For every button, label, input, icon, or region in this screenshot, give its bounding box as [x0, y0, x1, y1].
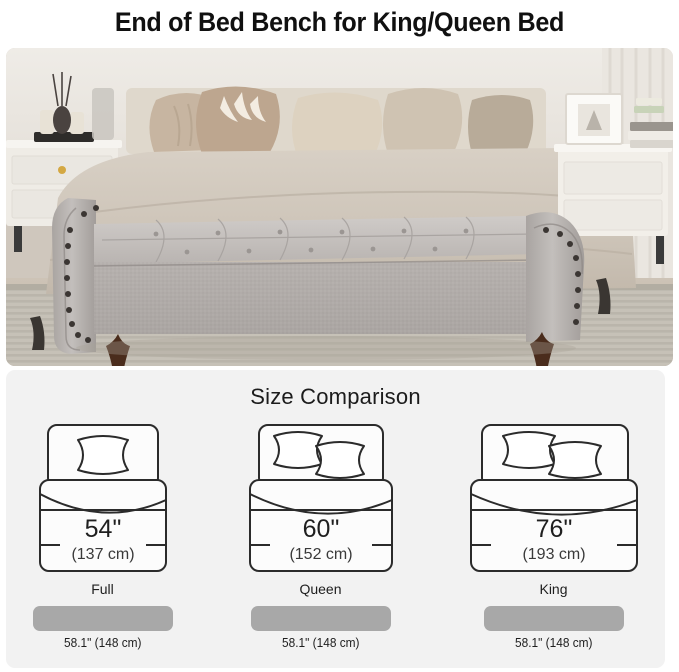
bed-label-king: King	[539, 581, 567, 597]
bed-label-queen: Queen	[299, 581, 341, 597]
bench-dimension-queen: 58.1" (148 cm)	[282, 636, 359, 650]
bed-column-queen: 60" (152 cm) Queen 58.1" (148 cm)	[248, 422, 394, 650]
bench-bar-queen	[251, 606, 391, 631]
size-comparison-title: Size Comparison	[6, 370, 665, 410]
page-title: End of Bed Bench for King/Queen Bed	[24, 0, 655, 44]
bed-diagram-full-icon: 54" (137 cm)	[38, 422, 168, 574]
bench-dimension-full: 58.1" (148 cm)	[64, 636, 141, 650]
bed-width-cm-queen: (152 cm)	[289, 546, 352, 563]
bed-diagram-king-icon: 76" (193 cm)	[469, 422, 639, 574]
bench-bar-king	[484, 606, 624, 631]
bed-column-full: 54" (137 cm) Full 58.1" (148 cm)	[33, 422, 173, 650]
bed-label-full: Full	[91, 581, 114, 597]
bed-diagram-queen-icon: 60" (152 cm)	[248, 422, 394, 574]
bench-bar-full	[33, 606, 173, 631]
bed-comparison-row: 54" (137 cm) Full 58.1" (148 cm) 60" (15…	[6, 422, 665, 650]
product-photo	[6, 48, 673, 366]
bench-dimension-king: 58.1" (148 cm)	[515, 636, 592, 650]
bed-width-inches-queen: 60"	[302, 515, 339, 543]
size-comparison-panel: Size Comparison 54" (137 cm) Full 58.1" …	[6, 370, 665, 668]
bed-column-king: 76" (193 cm) King 58.1" (148 cm)	[469, 422, 639, 650]
bed-width-cm-king: (193 cm)	[522, 546, 585, 563]
bed-width-inches-full: 54"	[84, 515, 121, 543]
bedroom-photo-icon	[6, 48, 673, 366]
bed-width-inches-king: 76"	[535, 515, 572, 543]
bed-width-cm-full: (137 cm)	[71, 546, 134, 563]
